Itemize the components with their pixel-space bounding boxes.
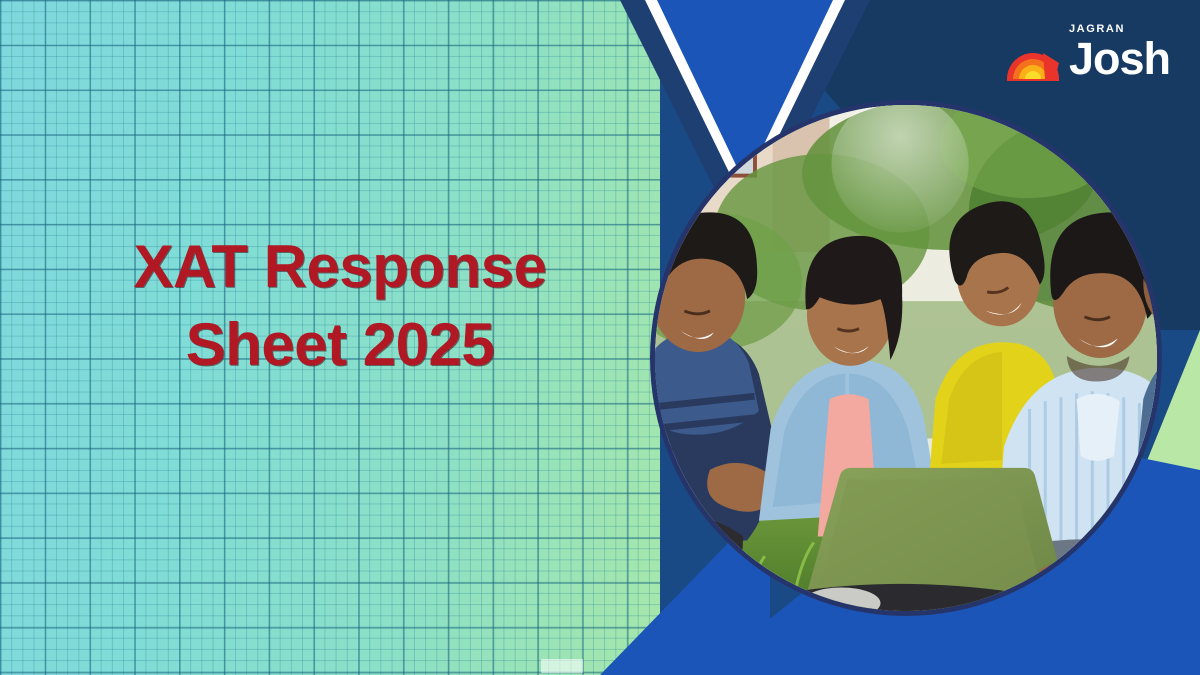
logo-josh-text: Josh <box>1069 36 1170 81</box>
jagran-josh-logo[interactable]: JAGRAN Josh <box>1005 24 1170 81</box>
xat-response-sheet-banner: XAT Response Sheet 2025 JAGRAN Josh <box>0 0 1200 675</box>
headline-line-1: XAT Response <box>134 233 547 300</box>
headline-line-2: Sheet 2025 <box>60 306 620 384</box>
page-title: XAT Response Sheet 2025 <box>60 228 620 384</box>
logo-wordmark: JAGRAN Josh <box>1069 24 1170 81</box>
watermark-bar <box>541 659 583 673</box>
students-photo-illustration <box>655 105 1157 611</box>
sun-rainbow-icon <box>1005 43 1061 81</box>
students-photo-circle <box>650 100 1162 616</box>
